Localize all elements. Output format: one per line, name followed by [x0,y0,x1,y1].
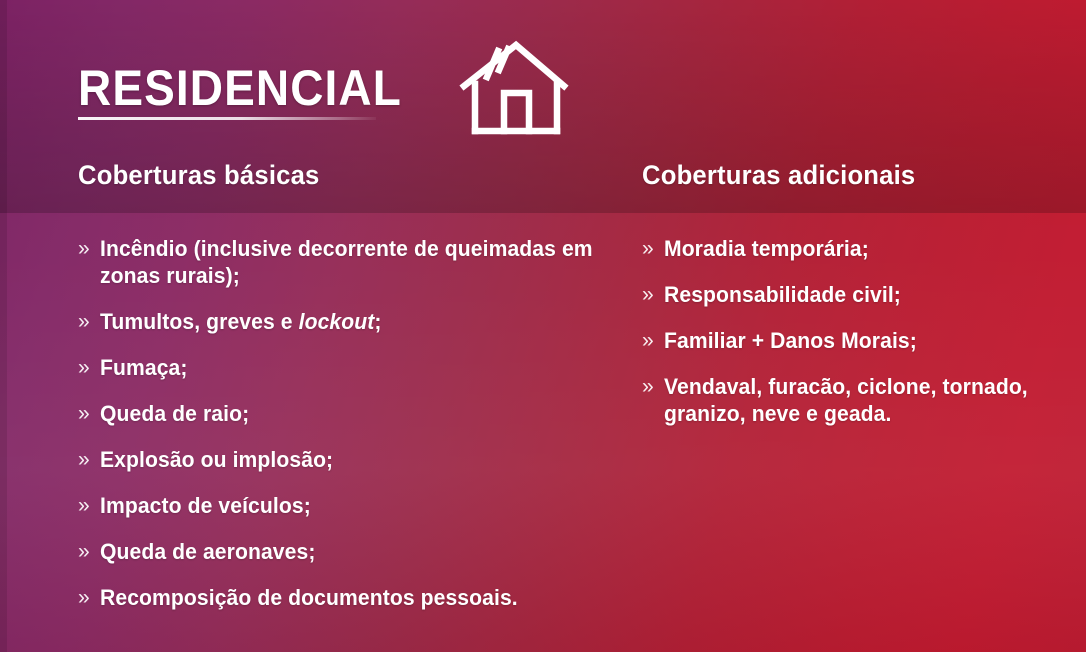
list-item: »Incêndio (inclusive decorrente de queim… [78,235,618,289]
guillemet-bullet-icon: » [78,538,100,565]
emphasis-text: lockout [299,309,375,334]
list-item: »Moradia temporária; [642,235,1072,262]
guillemet-bullet-icon: » [78,354,100,381]
guillemet-bullet-icon: » [642,373,664,400]
list-item: »Tumultos, greves e lockout; [78,308,618,335]
list-item: »Recomposição de documentos pessoais. [78,584,618,611]
list-item: »Responsabilidade civil; [642,281,1072,308]
list-item: »Fumaça; [78,354,618,381]
list-item-label: Familiar + Danos Morais; [664,327,917,354]
list-item-label: Recomposição de documentos pessoais. [100,584,518,611]
title-underline [78,117,376,120]
list-item-label: Responsabilidade civil; [664,281,901,308]
list-item-label: Fumaça; [100,354,188,381]
list-item: »Queda de raio; [78,400,618,427]
list-item: »Vendaval, furacão, ciclone, tornado, gr… [642,373,1072,427]
list-item: »Queda de aeronaves; [78,538,618,565]
basic-coverages-list: »Incêndio (inclusive decorrente de queim… [78,235,618,611]
list-item-label: Impacto de veículos; [100,492,311,519]
column-heading-additional: Coberturas adicionais [642,160,1051,191]
guillemet-bullet-icon: » [78,492,100,519]
house-icon [458,38,570,138]
list-item-label: Incêndio (inclusive decorrente de queima… [100,235,597,289]
guillemet-bullet-icon: » [642,235,664,262]
guillemet-bullet-icon: » [78,446,100,473]
list-item: »Familiar + Danos Morais; [642,327,1072,354]
list-item-label: Tumultos, greves e lockout; [100,308,382,335]
additional-coverages-list: »Moradia temporária;»Responsabilidade ci… [642,235,1072,427]
guillemet-bullet-icon: » [78,235,100,262]
guillemet-bullet-icon: » [642,281,664,308]
guillemet-bullet-icon: » [78,308,100,335]
list-item-label: Moradia temporária; [664,235,869,262]
left-edge-strip [0,0,7,652]
title-row: RESIDENCIAL [78,38,570,138]
column-basic-coverages: Coberturas básicas »Incêndio (inclusive … [78,160,618,630]
list-item: »Explosão ou implosão; [78,446,618,473]
list-item-label: Queda de raio; [100,400,249,427]
list-item: »Impacto de veículos; [78,492,618,519]
list-item-label: Vendaval, furacão, ciclone, tornado, gra… [664,373,1056,427]
list-item-label: Explosão ou implosão; [100,446,333,473]
residencial-coverage-card: RESIDENCIAL Coberturas básicas »Incêndio… [0,0,1086,652]
column-additional-coverages: Coberturas adicionais »Moradia temporári… [642,160,1072,446]
guillemet-bullet-icon: » [78,584,100,611]
guillemet-bullet-icon: » [78,400,100,427]
guillemet-bullet-icon: » [642,327,664,354]
page-title: RESIDENCIAL [78,63,402,113]
list-item-label: Queda de aeronaves; [100,538,315,565]
column-heading-basic: Coberturas básicas [78,160,591,191]
